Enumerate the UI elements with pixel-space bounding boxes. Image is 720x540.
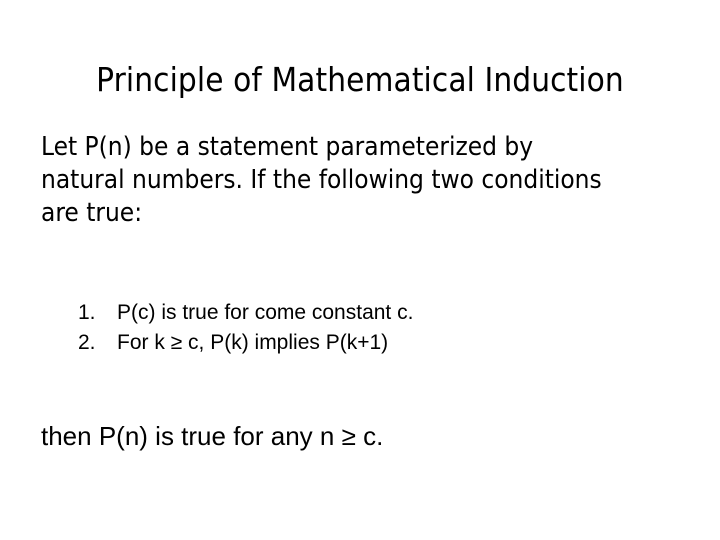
body-line-1: Let P(n) be a statement parameterized by <box>41 131 686 164</box>
list-item-label: For k ≥ c, P(k) implies P(k+1) <box>117 328 388 358</box>
list-item-marker: 1. <box>78 298 117 328</box>
list-item-label: P(c) is true for come constant c. <box>117 298 413 328</box>
conclusion-line: then P(n) is true for any n ≥ c. <box>41 419 686 453</box>
body-line-2: natural numbers. If the following two co… <box>41 164 686 197</box>
list-item: 2. For k ≥ c, P(k) implies P(k+1) <box>78 328 678 358</box>
slide-body-paragraph: Let P(n) be a statement parameterized by… <box>41 131 686 230</box>
list-item: 1. P(c) is true for come constant c. <box>78 298 678 328</box>
conditions-list: 1. P(c) is true for come constant c. 2. … <box>78 298 678 358</box>
list-item-marker: 2. <box>78 328 117 358</box>
slide-title: Principle of Mathematical Induction <box>0 60 720 100</box>
body-line-3: are true: <box>41 197 686 230</box>
presentation-slide: Principle of Mathematical Induction Let … <box>0 0 720 540</box>
